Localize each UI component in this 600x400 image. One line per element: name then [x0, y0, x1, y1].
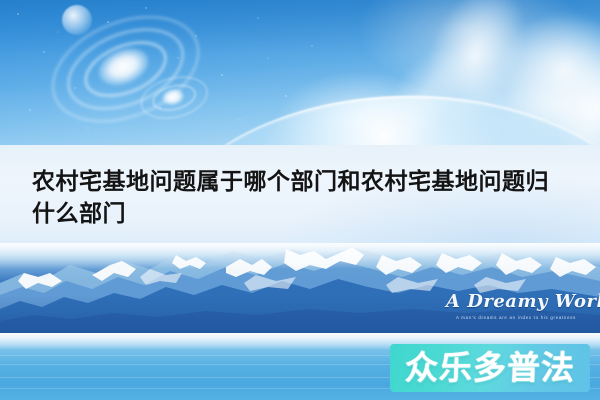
sky-background	[0, 0, 600, 145]
mountain-range	[0, 243, 600, 335]
mountain-shadow	[0, 295, 600, 335]
site-logo-text: 众乐多普法	[404, 351, 575, 385]
page-title: 农村宅基地问题属于哪个部门和农村宅基地问题归什么部门	[32, 166, 572, 230]
site-logo[interactable]: 众乐多普法	[390, 344, 590, 392]
moon-icon	[62, 5, 92, 35]
mountain-haze	[0, 243, 600, 269]
article-banner-image: 农村宅基地问题属于哪个部门和农村宅基地问题归什么部门	[0, 0, 600, 400]
